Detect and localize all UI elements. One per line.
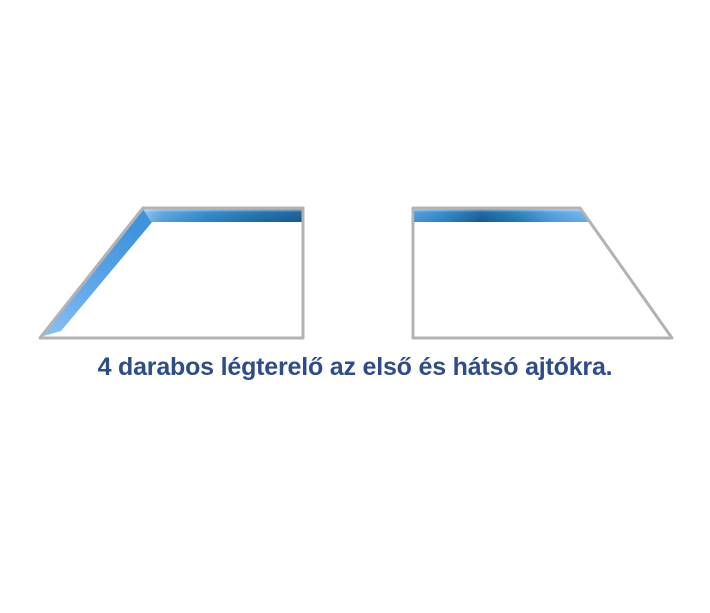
- rear-door-window-glass: [413, 208, 672, 338]
- product-illustration: 4 darabos légterelő az első és hátsó ajt…: [0, 0, 710, 613]
- front-door-window-glass: [40, 208, 303, 338]
- front-door-deflector-top-sheen: [143, 209, 302, 222]
- caption-text: 4 darabos légterelő az első és hátsó ajt…: [0, 352, 710, 382]
- front-door-window-group: [40, 208, 303, 338]
- rear-door-window-group: [413, 208, 672, 338]
- rear-door-deflector-top-sheen: [414, 209, 589, 222]
- deflector-diagram: [0, 0, 710, 613]
